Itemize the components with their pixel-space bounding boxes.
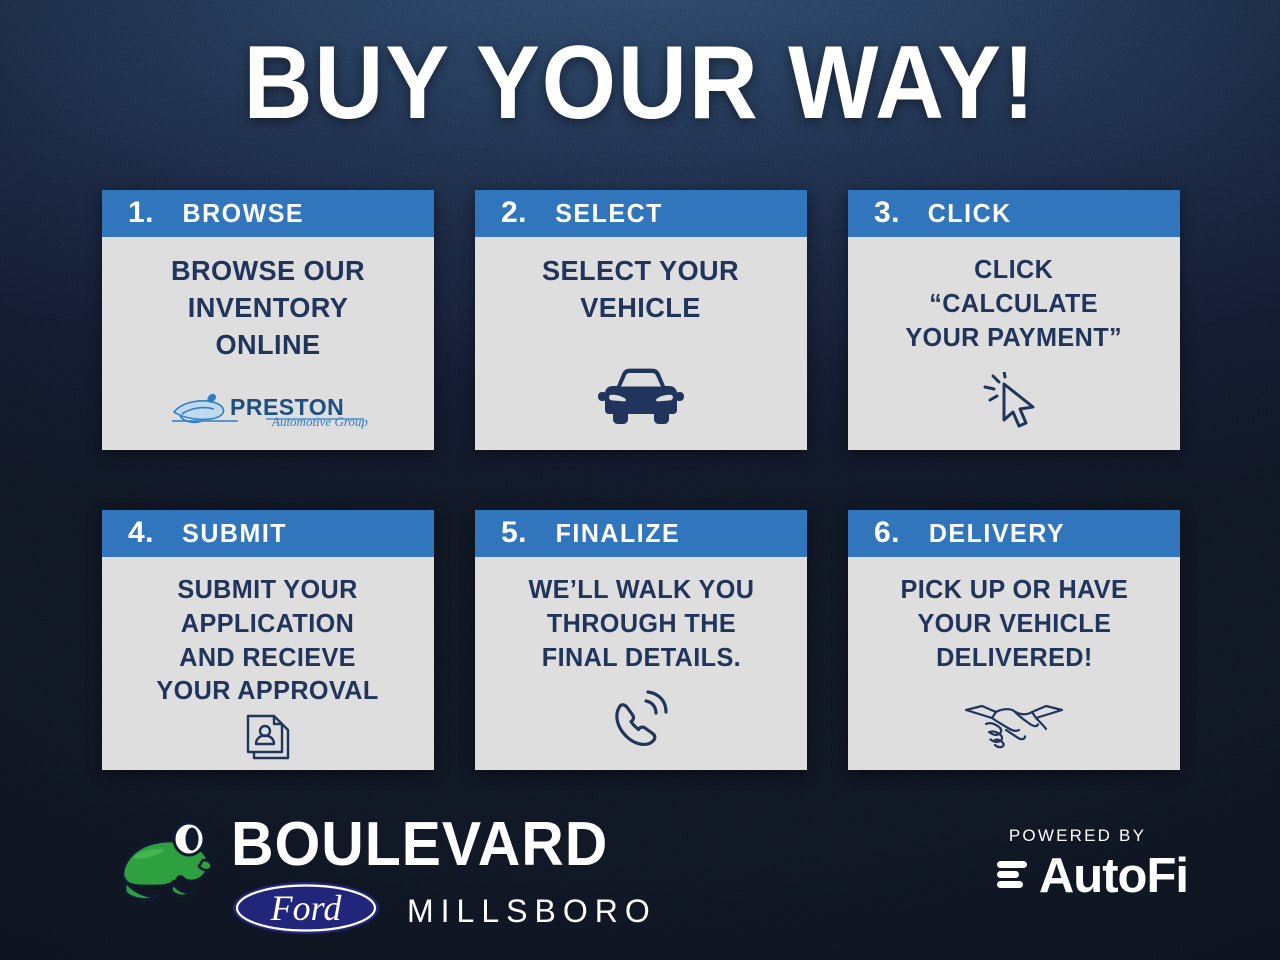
frog-logo bbox=[115, 820, 223, 915]
step-number: 2. bbox=[501, 198, 527, 228]
step-title: FINALIZE bbox=[556, 520, 681, 546]
step-card-body: PICK UP OR HAVE YOUR VEHICLE DELIVERED! bbox=[848, 557, 1180, 770]
step-card-body: WE’LL WALK YOU THROUGH THE FINAL DETAILS… bbox=[475, 557, 807, 770]
autofi-bars-icon bbox=[995, 853, 1029, 900]
steps-grid: 1. BROWSE BROWSE OUR INVENTORY ONLINE PR… bbox=[102, 190, 1180, 770]
step-title: DELIVERY bbox=[929, 520, 1065, 546]
step-text: WE’LL WALK YOU THROUGH THE FINAL DETAILS… bbox=[528, 573, 754, 674]
partner-logo-group[interactable]: POWERED BY AutoFi bbox=[995, 826, 1188, 901]
ford-oval-logo: Ford bbox=[231, 880, 381, 941]
step-card-header: 3. CLICK bbox=[848, 190, 1180, 237]
step-card-delivery[interactable]: 6. DELIVERY PICK UP OR HAVE YOUR VEHICLE… bbox=[848, 510, 1180, 770]
step-card-body: BROWSE OUR INVENTORY ONLINE PRESTON Auto… bbox=[102, 237, 434, 450]
mouse-cursor-click-icon bbox=[977, 372, 1051, 430]
step-text: CLICK “CALCULATE YOUR PAYMENT” bbox=[906, 253, 1123, 354]
step-number: 4. bbox=[128, 518, 154, 548]
preston-automotive-group-logo: PRESTON Automotive Group bbox=[168, 390, 368, 430]
powered-by-label: POWERED BY bbox=[995, 826, 1188, 846]
step-card-header: 5. FINALIZE bbox=[475, 510, 807, 557]
step-card-header: 2. SELECT bbox=[475, 190, 807, 237]
step-number: 1. bbox=[128, 198, 154, 228]
step-number: 5. bbox=[501, 518, 527, 548]
step-number: 6. bbox=[874, 518, 900, 548]
step-title: SELECT bbox=[555, 200, 663, 226]
step-card-select[interactable]: 2. SELECT SELECT YOUR VEHICLE bbox=[475, 190, 807, 450]
step-text: PICK UP OR HAVE YOUR VEHICLE DELIVERED! bbox=[900, 573, 1128, 674]
svg-text:Ford: Ford bbox=[270, 888, 343, 928]
step-title: SUBMIT bbox=[182, 520, 287, 546]
step-card-submit[interactable]: 4. SUBMIT SUBMIT YOUR APPLICATION AND RE… bbox=[102, 510, 434, 770]
dealer-logo-group[interactable]: BOULEVARD Ford MILLSBORO bbox=[115, 814, 657, 941]
handshake-icon bbox=[962, 696, 1066, 750]
step-card-browse[interactable]: 1. BROWSE BROWSE OUR INVENTORY ONLINE PR… bbox=[102, 190, 434, 450]
step-number: 3. bbox=[874, 198, 900, 228]
footer: BOULEVARD Ford MILLSBORO POWERED BY bbox=[0, 812, 1280, 942]
dealer-city: MILLSBORO bbox=[407, 895, 657, 927]
dealer-name: BOULEVARD bbox=[231, 814, 635, 876]
step-title: BROWSE bbox=[183, 200, 305, 226]
step-card-header: 6. DELIVERY bbox=[848, 510, 1180, 557]
step-card-finalize[interactable]: 5. FINALIZE WE’LL WALK YOU THROUGH THE F… bbox=[475, 510, 807, 770]
step-card-body: SELECT YOUR VEHICLE bbox=[475, 237, 807, 450]
page-title: BUY YOUR WAY! bbox=[51, 32, 1229, 134]
svg-text:Automotive Group: Automotive Group bbox=[271, 414, 368, 429]
step-card-header: 1. BROWSE bbox=[102, 190, 434, 237]
step-title: CLICK bbox=[928, 200, 1012, 226]
step-card-header: 4. SUBMIT bbox=[102, 510, 434, 557]
step-card-body: CLICK “CALCULATE YOUR PAYMENT” bbox=[848, 237, 1180, 450]
step-text: SUBMIT YOUR APPLICATION AND RECIEVE YOUR… bbox=[157, 573, 379, 708]
car-front-icon bbox=[595, 364, 687, 430]
step-text: SELECT YOUR VEHICLE bbox=[543, 253, 740, 327]
partner-name: AutoFi bbox=[1039, 852, 1188, 901]
step-card-body: SUBMIT YOUR APPLICATION AND RECIEVE YOUR… bbox=[102, 557, 434, 786]
application-document-icon bbox=[240, 708, 296, 766]
step-card-click[interactable]: 3. CLICK CLICK “CALCULATE YOUR PAYMENT” bbox=[848, 190, 1180, 450]
step-text: BROWSE OUR INVENTORY ONLINE bbox=[171, 253, 365, 364]
phone-ringing-icon bbox=[608, 690, 674, 750]
